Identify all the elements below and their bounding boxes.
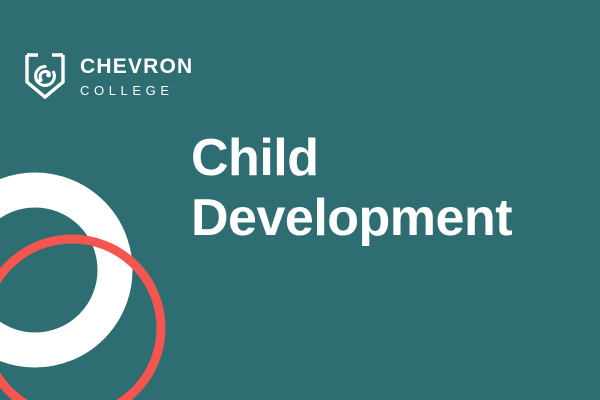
brand-name: CHEVRON xyxy=(80,56,193,77)
brand-wordmark: CHEVRON COLLEGE xyxy=(80,56,193,97)
white-ring xyxy=(0,190,115,350)
red-ring xyxy=(0,239,161,400)
brand-logo[interactable]: CHEVRON COLLEGE xyxy=(24,52,193,100)
page-title-line-1: Child xyxy=(191,128,512,188)
page-title: Child Development xyxy=(191,128,512,248)
brand-subname: COLLEGE xyxy=(80,84,193,97)
shield-swirl-icon xyxy=(24,52,66,100)
page-title-line-2: Development xyxy=(191,188,512,248)
course-promo-card: CHEVRON COLLEGE Child Development xyxy=(0,0,600,400)
